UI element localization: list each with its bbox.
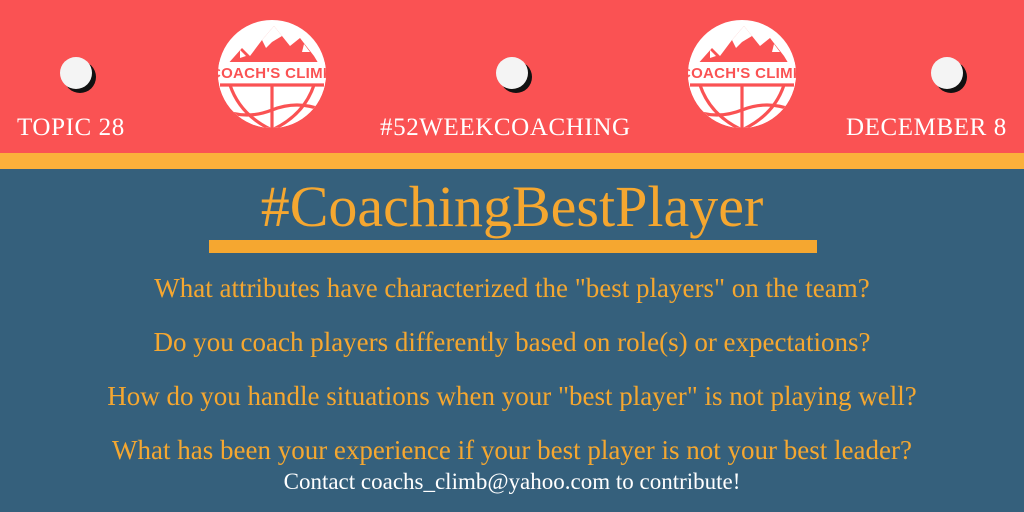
title-underline-rule <box>209 240 817 253</box>
question-item: Do you coach players differently based o… <box>0 315 1024 369</box>
gold-divider-stripe <box>0 153 1024 169</box>
date-label: DECEMBER 8 <box>846 115 1007 140</box>
coachs-climb-logo-icon: COACH'S CLIMB <box>216 18 328 130</box>
coachs-climb-logo-icon: COACH'S CLIMB <box>686 18 798 130</box>
question-item: What attributes have characterized the "… <box>0 261 1024 315</box>
svg-text:COACH'S CLIMB: COACH'S CLIMB <box>216 65 328 82</box>
ball-dot-icon <box>496 57 528 89</box>
ball-dot-icon <box>60 57 92 89</box>
contact-text: Contact coachs_climb@yahoo.com to contri… <box>0 470 1024 493</box>
page-title: #CoachingBestPlayer <box>0 178 1024 236</box>
question-list: What attributes have characterized the "… <box>0 261 1024 477</box>
poster-canvas: COACH'S CLIMB <box>0 0 1024 512</box>
question-item: How do you handle situations when your "… <box>0 369 1024 423</box>
topic-label: TOPIC 28 <box>17 115 125 140</box>
svg-text:COACH'S CLIMB: COACH'S CLIMB <box>686 65 798 82</box>
campaign-hashtag-label: #52WEEKCOACHING <box>380 115 631 140</box>
ball-dot-icon <box>931 57 963 89</box>
